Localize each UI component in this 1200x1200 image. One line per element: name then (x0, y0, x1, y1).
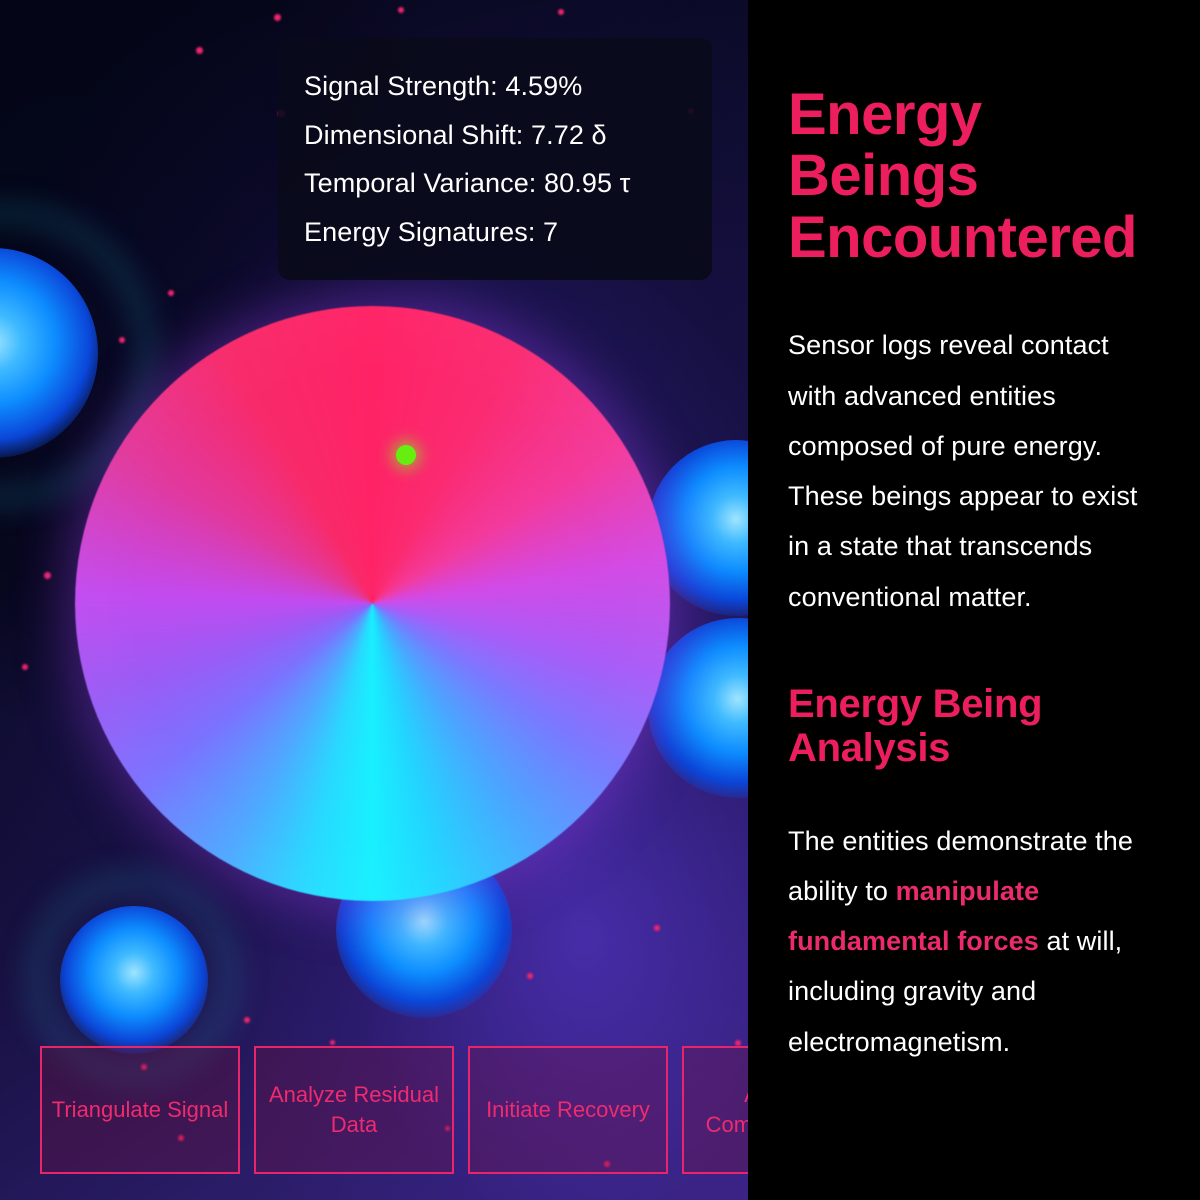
triangulate-signal-button[interactable]: Triangulate Signal (40, 1046, 240, 1174)
energy-signature-marker-icon (396, 445, 416, 465)
action-button-bar: Triangulate Signal Analyze Residual Data… (40, 1046, 748, 1174)
visualization-panel: Signal Strength: 4.59% Dimensional Shift… (0, 0, 748, 1200)
initiate-recovery-button[interactable]: Initiate Recovery (468, 1046, 668, 1174)
energy-orb (60, 906, 208, 1054)
page-title: Energy Beings Encountered (788, 84, 1156, 268)
stat-row-dimensional-shift: Dimensional Shift: 7.72 δ (304, 111, 686, 160)
star-particle (274, 14, 281, 21)
stat-row-energy-signatures: Energy Signatures: 7 (304, 208, 686, 257)
star-particle (330, 1040, 335, 1045)
star-particle (244, 1017, 250, 1023)
screen-root: Signal Strength: 4.59% Dimensional Shift… (0, 0, 1200, 1200)
content-sidebar: Energy Beings Encountered Sensor logs re… (748, 0, 1200, 1200)
section-heading: Energy Being Analysis (788, 682, 1156, 770)
star-particle (558, 9, 564, 15)
star-particle (527, 973, 533, 979)
intro-paragraph: Sensor logs reveal contact with advanced… (788, 320, 1156, 621)
stat-row-signal-strength: Signal Strength: 4.59% (304, 62, 686, 111)
star-particle (398, 7, 404, 13)
disc-sheen-overlay (75, 306, 670, 901)
star-particle (168, 290, 174, 296)
star-particle (119, 337, 125, 343)
stat-row-temporal-variance: Temporal Variance: 80.95 τ (304, 159, 686, 208)
analyze-residual-data-button[interactable]: Analyze Residual Data (254, 1046, 454, 1174)
telemetry-readout-panel: Signal Strength: 4.59% Dimensional Shift… (278, 38, 712, 280)
star-particle (196, 47, 203, 54)
star-particle (44, 572, 51, 579)
attempt-communication-button[interactable]: Attempt Communication (682, 1046, 748, 1174)
star-particle (22, 664, 28, 670)
star-particle (654, 925, 660, 931)
analysis-paragraph: The entities demonstrate the ability to … (788, 816, 1156, 1067)
